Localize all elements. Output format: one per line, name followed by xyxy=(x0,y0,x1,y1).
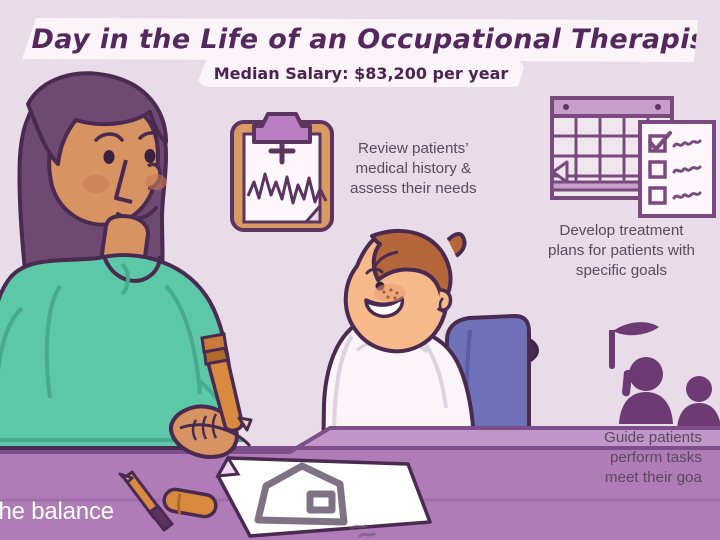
annotation-guide-text: Guide patients perform tasks meet their … xyxy=(604,428,702,488)
infographic-canvas: A Day in the Life of an Occupational The… xyxy=(0,0,720,540)
annotation-review-text: Review patients’ medical history & asses… xyxy=(350,139,477,199)
annotation-plans-text: Develop treatment plans for patients wit… xyxy=(548,221,695,281)
salary-banner: Median Salary: $83,200 per year xyxy=(196,60,526,87)
title-banner: A Day in the Life of an Occupational The… xyxy=(22,18,698,62)
brand-watermark: the balance xyxy=(0,498,114,526)
page-title: A Day in the Life of an Occupational The… xyxy=(0,24,719,55)
clipboard-chart-icon xyxy=(232,114,332,230)
childs-drawing xyxy=(218,458,430,536)
median-salary-text: Median Salary: $83,200 per year xyxy=(214,64,509,83)
